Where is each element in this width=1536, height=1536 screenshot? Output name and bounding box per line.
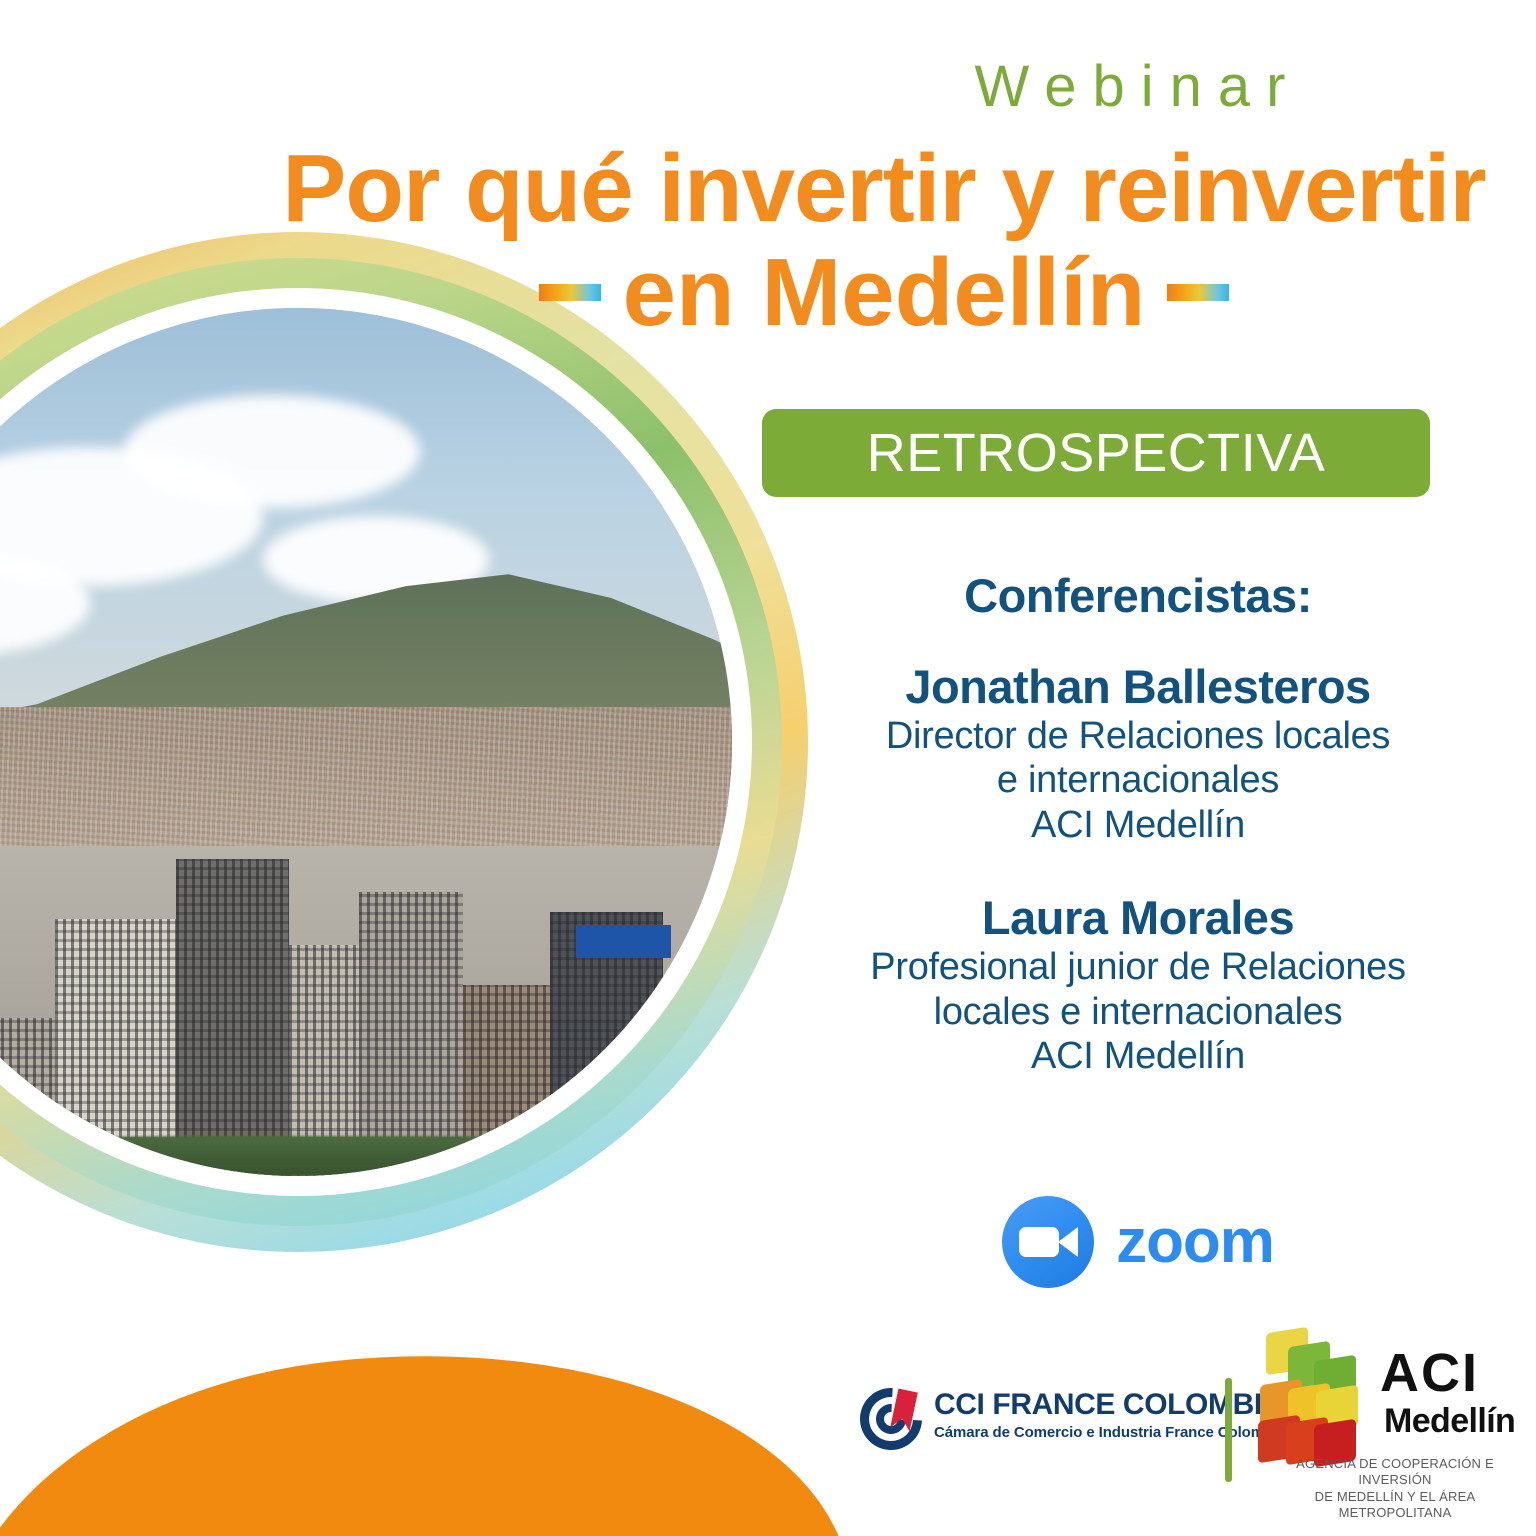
building	[55, 919, 177, 1176]
cci-monogram-icon	[860, 1388, 922, 1450]
foreground-trees	[0, 1136, 732, 1176]
building	[359, 892, 463, 1176]
cci-logo-title: CCI FRANCE COLOMBIA	[934, 1388, 1285, 1421]
video-camera-icon	[1002, 1196, 1094, 1288]
cci-logo-subtitle: Cámara de Comercio e Industria France Co…	[934, 1424, 1285, 1441]
title-line-1: Por qué invertir y reinvertir	[240, 140, 1528, 238]
building	[463, 985, 550, 1176]
content-column: Webinar Por qué invertir y reinvertir en…	[740, 0, 1536, 1536]
speaker-entry: Laura Morales Profesional junior de Rela…	[740, 892, 1536, 1079]
title-line-2: en Medellín	[623, 244, 1146, 342]
outer-ring	[0, 232, 808, 1252]
building	[289, 945, 358, 1176]
downtown-buildings	[0, 846, 732, 1176]
aci-tagline-line-2: DE MEDELLÍN Y EL ÁREA METROPOLITANA	[1264, 1489, 1526, 1522]
speaker-role-line: locales e internacionales	[740, 990, 1536, 1035]
city-photo	[0, 308, 732, 1176]
aci-tagline-line-1: AGENCIA DE COOPERACIÓN E INVERSIÓN	[1264, 1456, 1526, 1489]
cci-france-colombia-logo: CCI FRANCE COLOMBIA Cámara de Comercio e…	[860, 1388, 1285, 1450]
speaker-role-line: Director de Relaciones locales	[740, 714, 1536, 759]
gradient-dash-right-icon	[1167, 284, 1229, 301]
building-sign	[576, 925, 671, 958]
orange-blob	[0, 1310, 853, 1536]
title-line-2-row: en Medellín	[240, 244, 1528, 342]
decorative-ring-composition	[0, 232, 808, 1252]
hillside-houses	[0, 707, 732, 915]
mountain-ridge	[0, 568, 732, 863]
cloud	[0, 447, 263, 586]
cci-logo-text: CCI FRANCE COLOMBIA Cámara de Comercio e…	[934, 1388, 1285, 1441]
speaker-role-line: e internacionales	[740, 758, 1536, 803]
speaker-org: ACI Medellín	[740, 803, 1536, 848]
building	[176, 859, 289, 1176]
eyebrow-label: Webinar	[740, 58, 1536, 116]
aci-wordmark: ACI	[1380, 1348, 1479, 1399]
speaker-role-line: Profesional junior de Relaciones	[740, 945, 1536, 990]
gradient-dash-left-icon	[539, 284, 601, 301]
cloud	[0, 551, 90, 655]
speaker-name: Jonathan Ballesteros	[740, 661, 1536, 714]
speaker-entry: Jonathan Ballesteros Director de Relacio…	[740, 661, 1536, 848]
hillside-texture	[0, 707, 732, 915]
webinar-poster: Webinar Por qué invertir y reinvertir en…	[0, 0, 1536, 1536]
cloud	[263, 516, 489, 603]
building	[550, 912, 663, 1176]
footer-logos: CCI FRANCE COLOMBIA Cámara de Comercio e…	[840, 1326, 1536, 1516]
zoom-wordmark: zoom	[1116, 1211, 1274, 1273]
status-badge: RETROSPECTIVA	[762, 409, 1430, 497]
aci-tagline: AGENCIA DE COOPERACIÓN E INVERSIÓN DE ME…	[1264, 1456, 1526, 1521]
zoom-logo: zoom	[740, 1196, 1536, 1288]
speakers-heading: Conferencistas:	[740, 568, 1536, 623]
aci-medellin-logo: ACI Medellín AGENCIA DE COOPERACIÓN E IN…	[1258, 1330, 1528, 1506]
page-title: Por qué invertir y reinvertir en Medellí…	[240, 140, 1528, 342]
cyan-accent-tail	[294, 1406, 775, 1536]
outer-ring-hole	[0, 266, 774, 1218]
aci-city-name: Medellín	[1384, 1404, 1515, 1438]
speaker-org: ACI Medellín	[740, 1034, 1536, 1079]
aci-squares-icon	[1258, 1330, 1378, 1462]
sky	[0, 308, 732, 707]
speakers-section: Conferencistas: Jonathan Ballesteros Dir…	[740, 568, 1536, 1079]
banner-label: RETROSPECTIVA	[867, 422, 1326, 484]
logo-divider	[1225, 1378, 1232, 1482]
building	[0, 1018, 55, 1176]
inner-ring	[0, 258, 782, 1226]
speaker-name: Laura Morales	[740, 892, 1536, 945]
cloud	[124, 395, 419, 508]
inner-ring-hole	[0, 288, 752, 1196]
